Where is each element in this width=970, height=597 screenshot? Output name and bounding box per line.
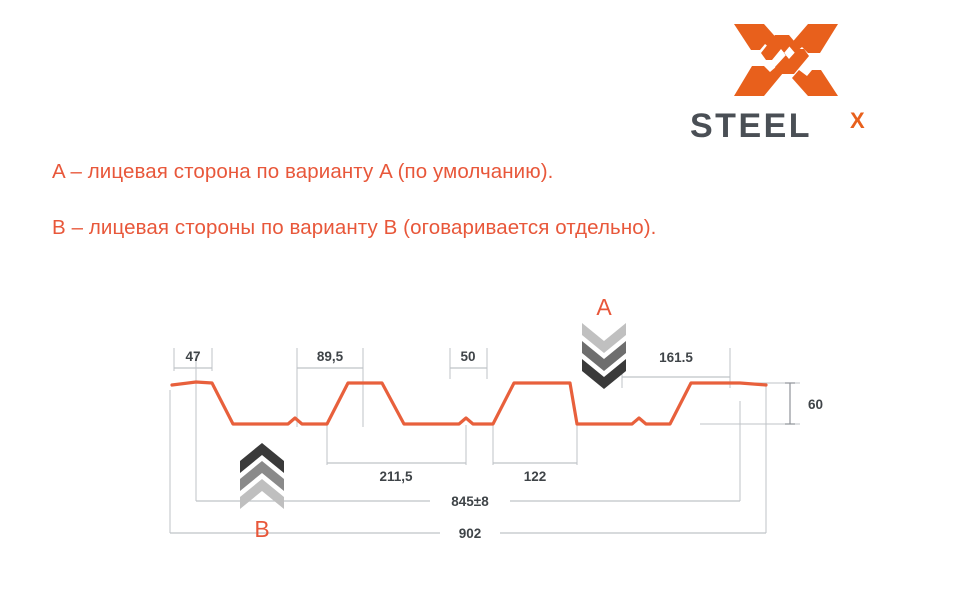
dim-211-5-group: 211,5 <box>327 463 466 484</box>
dim-60-group: 60 <box>785 383 823 424</box>
caption-variant-b: B – лицевая стороны по варианту B (огова… <box>52 216 656 240</box>
dim-211-5-label: 211,5 <box>379 469 413 484</box>
marker-b: B <box>240 443 284 542</box>
marker-a: A <box>582 294 626 389</box>
steelx-x-logo-icon <box>732 18 840 102</box>
marker-b-label: B <box>254 516 269 542</box>
dim-122-label: 122 <box>524 469 547 484</box>
dim-50-group: 50 <box>450 349 487 368</box>
dim-902-label: 902 <box>459 526 482 541</box>
marker-b-chevron-icon <box>240 443 284 509</box>
marker-a-chevron-icon <box>582 323 626 389</box>
dim-47-label: 47 <box>185 349 200 364</box>
dim-47-group: 47 <box>174 349 212 368</box>
dim-161-5-label: 161.5 <box>659 350 693 365</box>
dim-60-label: 60 <box>808 397 823 412</box>
dim-122-group: 122 <box>493 463 577 484</box>
dim-89-5-label: 89,5 <box>317 349 344 364</box>
profile-technical-drawing: 47 89,5 50 161.5 60 211,5 122 845±8 <box>0 275 970 565</box>
brand-logo: STEEL X <box>690 18 890 146</box>
marker-a-label: A <box>596 294 612 320</box>
profile-outline <box>172 382 766 424</box>
caption-variant-a: A – лицевая сторона по варианту A (по ум… <box>52 160 553 184</box>
dim-161-5-group: 161.5 <box>622 350 730 377</box>
wordmark-superscript: X <box>850 108 865 133</box>
dim-845-8-label: 845±8 <box>451 494 489 509</box>
dim-50-label: 50 <box>460 349 475 364</box>
dim-89-5-group: 89,5 <box>297 349 363 368</box>
brand-wordmark: STEEL X <box>690 106 890 146</box>
wordmark-text: STEEL <box>690 107 812 145</box>
